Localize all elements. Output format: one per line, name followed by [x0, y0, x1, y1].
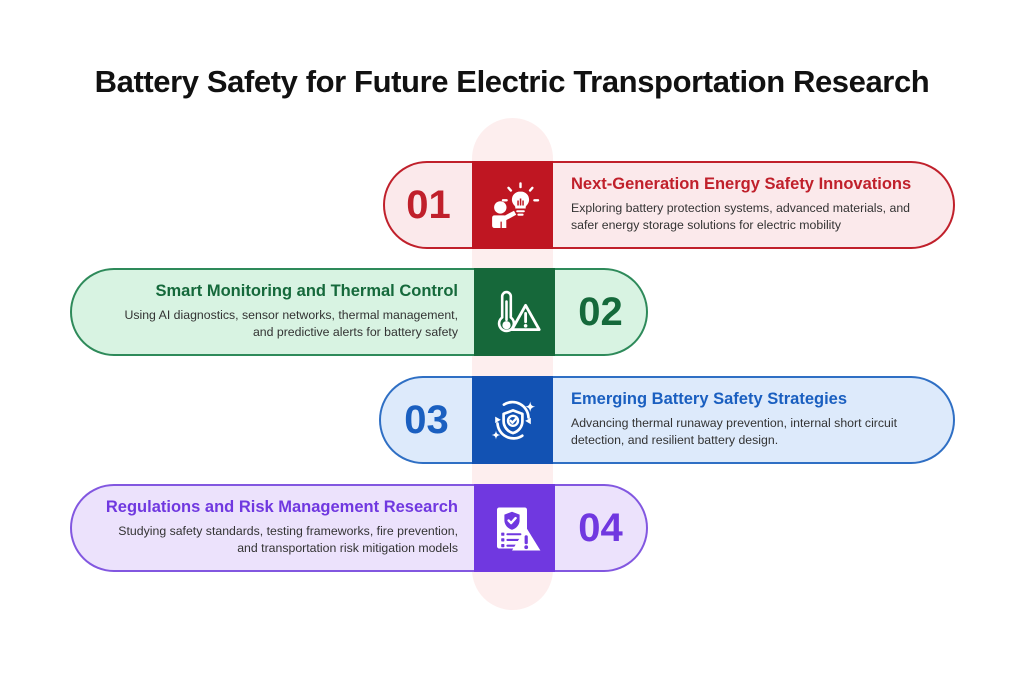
shield-check-refresh-icon [472, 376, 553, 464]
item-heading: Smart Monitoring and Thermal Control [155, 282, 458, 302]
text-block: Smart Monitoring and Thermal Control Usi… [102, 270, 458, 354]
item-body: Exploring battery protection systems, ad… [571, 200, 925, 235]
content-panel: Regulations and Risk Management Research… [70, 484, 474, 572]
step-number-04: 04 [555, 484, 648, 572]
text-block: Regulations and Risk Management Research… [102, 486, 458, 570]
item-body: Using AI diagnostics, sensor networks, t… [102, 307, 458, 342]
item-body: Advancing thermal runaway prevention, in… [571, 415, 925, 450]
text-block: Next-Generation Energy Safety Innovation… [571, 163, 925, 247]
step-number-01: 01 [383, 161, 472, 249]
content-panel: Emerging Battery Safety Strategies Advan… [553, 376, 955, 464]
list-item[interactable]: 03 [379, 376, 955, 464]
step-number-03: 03 [379, 376, 472, 464]
content-panel: Next-Generation Energy Safety Innovation… [553, 161, 955, 249]
item-heading: Next-Generation Energy Safety Innovation… [571, 175, 925, 195]
list-item[interactable]: 01 [383, 161, 955, 249]
person-pointing-lightbulb-icon [472, 161, 553, 249]
page-title: Battery Safety for Future Electric Trans… [0, 64, 1024, 100]
list-item[interactable]: Smart Monitoring and Thermal Control Usi… [70, 268, 648, 356]
item-heading: Regulations and Risk Management Research [106, 498, 458, 518]
item-body: Studying safety standards, testing frame… [102, 523, 458, 558]
infographic-canvas: Battery Safety for Future Electric Trans… [0, 0, 1024, 683]
step-number-02: 02 [555, 268, 648, 356]
list-item[interactable]: Regulations and Risk Management Research… [70, 484, 648, 572]
thermometer-warning-icon [474, 268, 555, 356]
document-shield-warning-icon [474, 484, 555, 572]
item-heading: Emerging Battery Safety Strategies [571, 390, 925, 410]
text-block: Emerging Battery Safety Strategies Advan… [571, 378, 925, 462]
content-panel: Smart Monitoring and Thermal Control Usi… [70, 268, 474, 356]
